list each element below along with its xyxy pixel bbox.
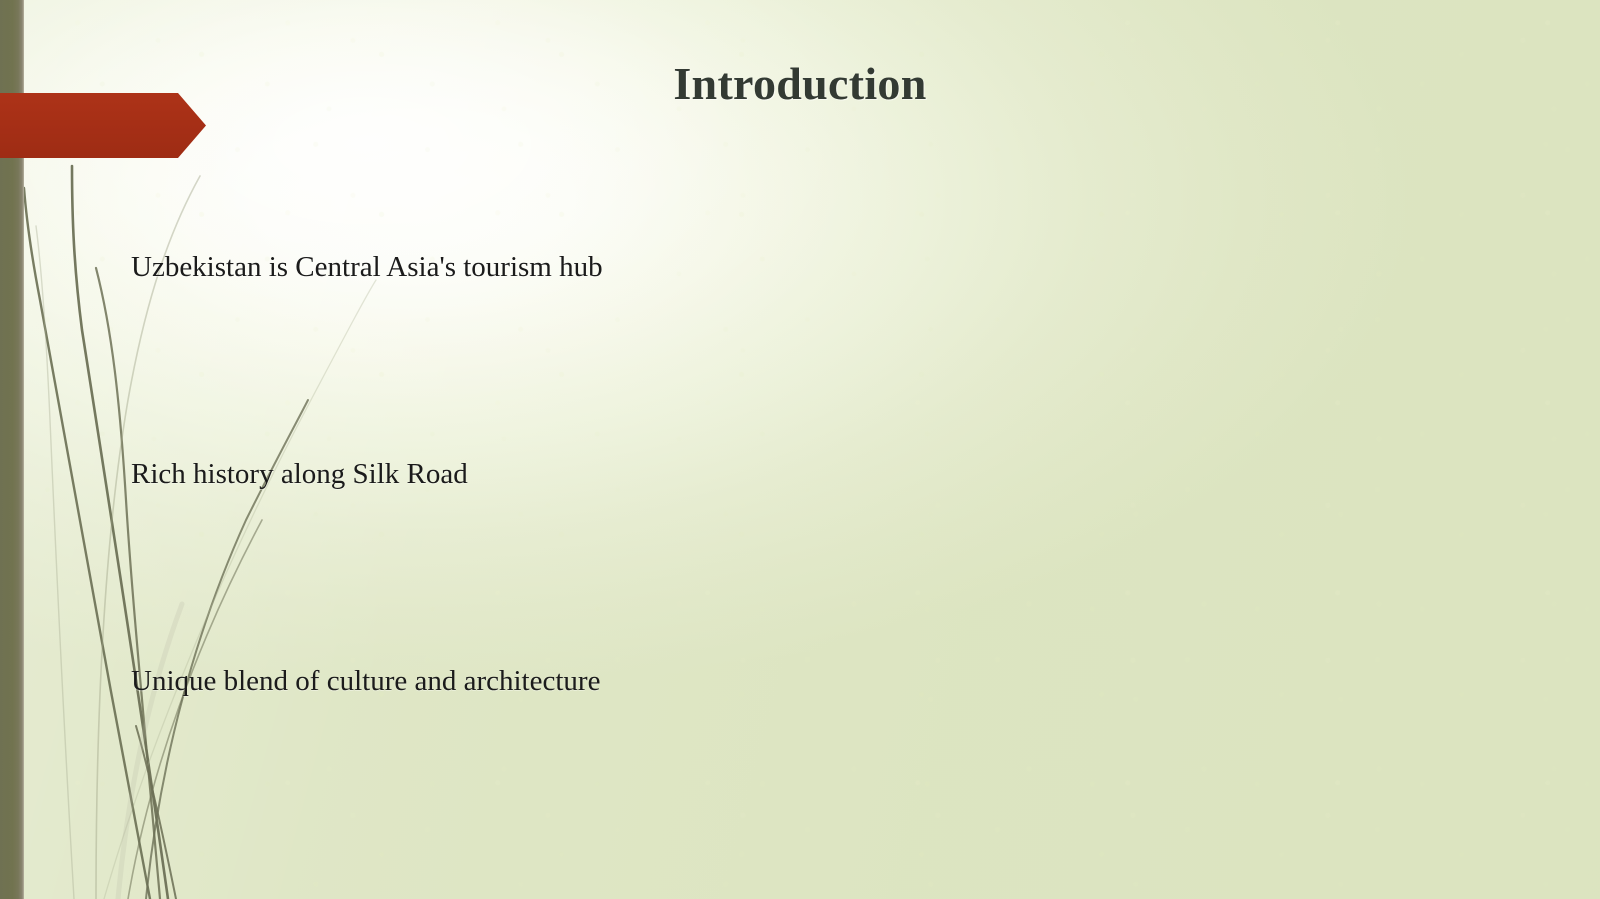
slide-title: Introduction (0, 57, 1600, 110)
bullet-line-3: Unique blend of culture and architecture (131, 664, 1231, 699)
slide-body: Uzbekistan is Central Asia's tourism hub… (131, 228, 1231, 698)
bullet-line-2: Rich history along Silk Road (131, 457, 1231, 492)
bullet-line-1: Uzbekistan is Central Asia's tourism hub (131, 250, 1231, 285)
presentation-slide: Introduction Uzbekistan is Central Asia'… (0, 0, 1600, 899)
